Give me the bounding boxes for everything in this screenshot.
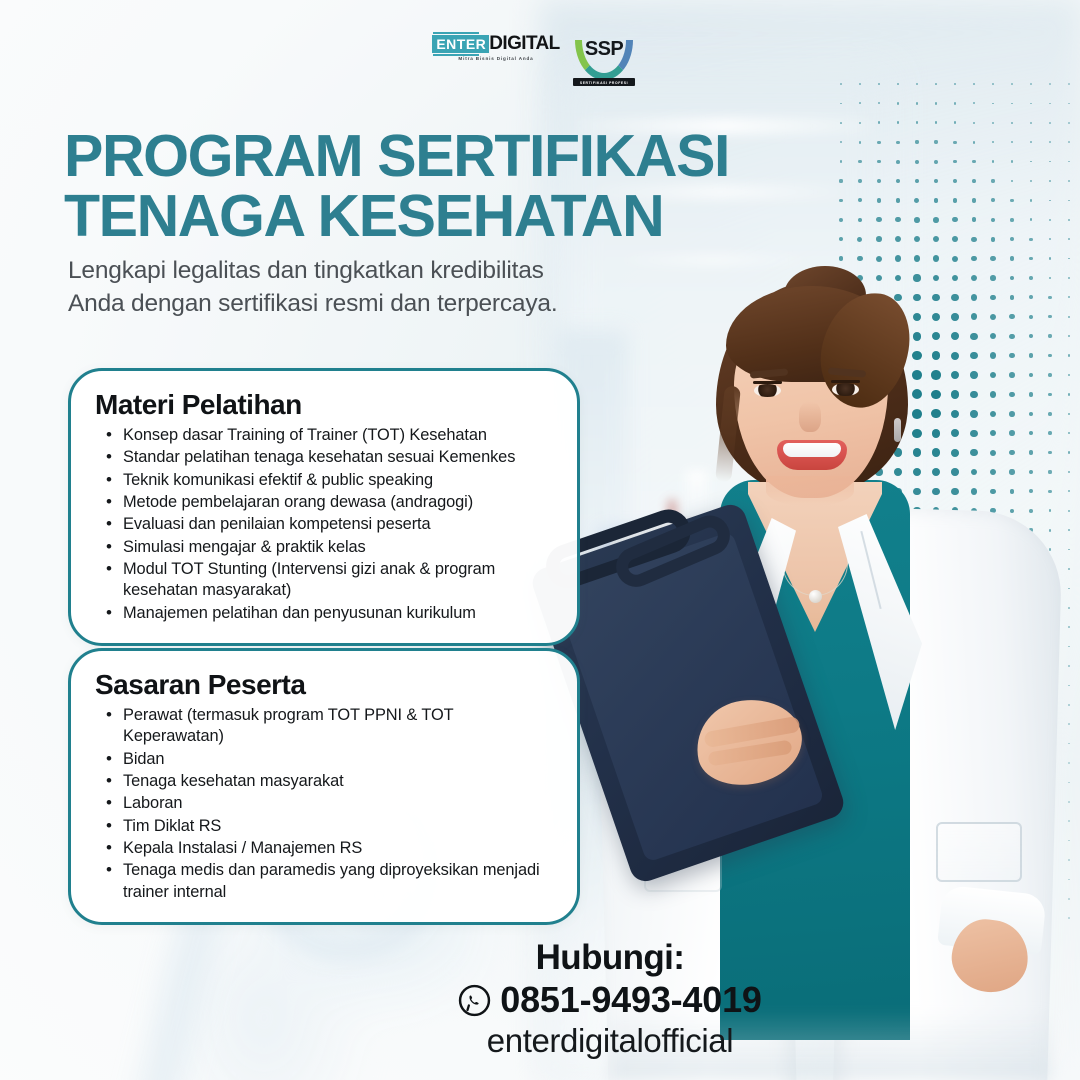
halftone-dot bbox=[1068, 161, 1070, 163]
halftone-dot bbox=[1068, 103, 1070, 105]
halftone-dot bbox=[972, 198, 976, 202]
halftone-dot bbox=[952, 217, 957, 222]
list-item: Tenaga kesehatan masyarakat bbox=[95, 771, 553, 792]
halftone-dot bbox=[1030, 122, 1032, 124]
halftone-dot bbox=[858, 218, 863, 223]
page-subtitle: Lengkapi legalitas dan tingkatkan kredib… bbox=[68, 255, 688, 320]
halftone-dot bbox=[877, 141, 880, 144]
halftone-dot bbox=[954, 102, 956, 104]
contact-phone-row[interactable]: 0851-9493-4019 bbox=[300, 979, 920, 1021]
halftone-dot bbox=[1011, 122, 1013, 124]
contact-label: Hubungi: bbox=[300, 938, 920, 978]
halftone-dot bbox=[915, 160, 919, 164]
contact-block: Hubungi: 0851-9493-4019 enterdigitaloffi… bbox=[300, 938, 920, 1060]
halftone-dot bbox=[1049, 161, 1051, 163]
halftone-dot bbox=[1011, 160, 1013, 162]
halftone-dot bbox=[934, 160, 938, 164]
halftone-dot bbox=[897, 121, 900, 124]
halftone-dot bbox=[840, 103, 842, 105]
halftone-dot bbox=[1049, 103, 1051, 105]
halftone-dot bbox=[1049, 180, 1051, 182]
halftone-dot bbox=[933, 217, 938, 222]
halftone-dot bbox=[859, 122, 861, 124]
halftone-dot bbox=[916, 121, 919, 124]
list-item: Standar pelatihan tenaga kesehatan sesua… bbox=[95, 447, 553, 468]
ssp-bar-text: SERTIFIKASI PROFESI bbox=[573, 81, 635, 85]
halftone-dot bbox=[1068, 219, 1070, 221]
halftone-dot bbox=[858, 198, 862, 202]
halftone-dot bbox=[1030, 199, 1033, 202]
card-sasaran-peserta: Sasaran Peserta Perawat (termasuk progra… bbox=[68, 648, 580, 925]
enter-digital-wordmark: ENTER DIGITAL bbox=[445, 34, 547, 53]
logo-digital-text: DIGITAL bbox=[489, 34, 559, 53]
list-item: Laboran bbox=[95, 793, 553, 814]
card-title: Sasaran Peserta bbox=[95, 669, 553, 701]
title-line-1: PROGRAM SERTIFIKASI bbox=[64, 128, 784, 186]
halftone-dot bbox=[934, 140, 937, 143]
subtitle-line-2: Anda dengan sertifikasi resmi dan terper… bbox=[68, 288, 688, 321]
halftone-dot bbox=[914, 198, 919, 203]
halftone-dot bbox=[859, 102, 861, 104]
earring bbox=[894, 418, 901, 442]
halftone-dot bbox=[895, 217, 900, 222]
logo-tagline: Mitra Bisnis Digital Anda bbox=[445, 56, 547, 61]
halftone-dot bbox=[1030, 141, 1032, 143]
halftone-dot bbox=[1030, 103, 1032, 105]
halftone-dot bbox=[916, 102, 918, 104]
halftone-dot bbox=[973, 122, 975, 124]
list-item: Konsep dasar Training of Trainer (TOT) K… bbox=[95, 425, 553, 446]
halftone-dot bbox=[954, 121, 957, 124]
halftone-dot bbox=[858, 160, 861, 163]
halftone-dot bbox=[972, 179, 976, 183]
halftone-dot bbox=[878, 121, 881, 124]
halftone-dot bbox=[877, 179, 881, 183]
halftone-dot bbox=[991, 198, 995, 202]
list-item: Evaluasi dan penilaian kompetensi pesert… bbox=[95, 514, 553, 535]
halftone-dot bbox=[840, 122, 842, 124]
halftone-dot bbox=[973, 141, 976, 144]
subtitle-line-1: Lengkapi legalitas dan tingkatkan kredib… bbox=[68, 255, 688, 288]
card-bullet-list: Perawat (termasuk program TOT PPNI & TOT… bbox=[95, 705, 553, 903]
list-item: Simulasi mengajar & praktik kelas bbox=[95, 537, 553, 558]
ssp-wordmark: SSP bbox=[573, 38, 635, 61]
eye-left bbox=[754, 384, 781, 397]
halftone-dot bbox=[858, 179, 862, 183]
chin-shadow bbox=[766, 476, 854, 506]
halftone-dot bbox=[896, 160, 900, 164]
enter-digital-logo: ENTER DIGITAL Mitra Bisnis Digital Anda bbox=[445, 34, 547, 61]
halftone-dot bbox=[935, 102, 937, 104]
list-item: Modul TOT Stunting (Intervensi gizi anak… bbox=[95, 559, 553, 602]
contact-social-handle[interactable]: enterdigitalofficial bbox=[300, 1022, 920, 1060]
halftone-dot bbox=[1011, 180, 1014, 183]
halftone-dot bbox=[915, 179, 919, 183]
poster-canvas: ENTER DIGITAL Mitra Bisnis Digital Anda … bbox=[0, 0, 1080, 1080]
halftone-dot bbox=[972, 160, 975, 163]
teeth bbox=[783, 443, 841, 457]
halftone-dot bbox=[839, 218, 843, 222]
halftone-dot bbox=[876, 217, 881, 222]
halftone-dot bbox=[1010, 199, 1013, 202]
halftone-dot bbox=[953, 179, 957, 183]
halftone-dot bbox=[1011, 103, 1013, 105]
ssp-logo: SSP SERTIFIKASI PROFESI bbox=[573, 34, 635, 86]
halftone-dot bbox=[896, 198, 901, 203]
list-item: Teknik komunikasi efektif & public speak… bbox=[95, 470, 553, 491]
halftone-dot bbox=[992, 103, 994, 105]
halftone-dot bbox=[992, 160, 995, 163]
halftone-dot bbox=[877, 198, 882, 203]
halftone-dot bbox=[1068, 122, 1070, 124]
halftone-dot bbox=[840, 141, 842, 143]
necklace-pendant bbox=[809, 590, 822, 603]
halftone-dot bbox=[840, 160, 843, 163]
halftone-dot bbox=[1049, 122, 1051, 124]
eye-right bbox=[832, 383, 859, 396]
halftone-dot bbox=[992, 122, 994, 124]
halftone-dot bbox=[915, 140, 918, 143]
page-title: PROGRAM SERTIFIKASI TENAGA KESEHATAN bbox=[64, 128, 784, 246]
halftone-dot bbox=[877, 160, 881, 164]
halftone-dot bbox=[991, 218, 995, 222]
contact-phone-number[interactable]: 0851-9493-4019 bbox=[500, 979, 761, 1021]
halftone-dot bbox=[1049, 200, 1051, 202]
list-item: Tenaga medis dan paramedis yang diproyek… bbox=[95, 860, 553, 903]
list-item: Metode pembelajaran orang dewasa (andrag… bbox=[95, 492, 553, 513]
halftone-dot bbox=[953, 141, 956, 144]
logo-enter-text: ENTER bbox=[432, 35, 489, 53]
list-item: Kepala Instalasi / Manajemen RS bbox=[95, 838, 553, 859]
halftone-dot bbox=[896, 179, 900, 183]
nose bbox=[799, 402, 821, 432]
halftone-dot bbox=[1011, 141, 1013, 143]
card-bullet-list: Konsep dasar Training of Trainer (TOT) K… bbox=[95, 425, 553, 624]
halftone-dot bbox=[914, 217, 920, 223]
halftone-dot bbox=[973, 102, 975, 104]
halftone-dot bbox=[953, 198, 958, 203]
halftone-dot bbox=[935, 121, 938, 124]
title-line-2: TENAGA KESEHATAN bbox=[64, 188, 784, 246]
halftone-dot bbox=[992, 141, 995, 144]
list-item: Bidan bbox=[95, 749, 553, 770]
list-item: Tim Diklat RS bbox=[95, 816, 553, 837]
halftone-dot bbox=[934, 198, 939, 203]
halftone-dot bbox=[1030, 161, 1032, 163]
halftone-dot bbox=[878, 102, 880, 104]
list-item: Perawat (termasuk program TOT PPNI & TOT… bbox=[95, 705, 553, 748]
card-title: Materi Pelatihan bbox=[95, 389, 553, 421]
halftone-dot bbox=[991, 179, 994, 182]
halftone-dot bbox=[1030, 180, 1032, 182]
halftone-dot bbox=[1068, 200, 1070, 202]
halftone-dot bbox=[1068, 141, 1070, 143]
halftone-dot bbox=[897, 102, 899, 104]
logo-bar: ENTER DIGITAL Mitra Bisnis Digital Anda … bbox=[0, 34, 1080, 86]
halftone-dot bbox=[839, 179, 842, 182]
halftone-dot bbox=[1030, 218, 1033, 221]
card-materi-pelatihan: Materi Pelatihan Konsep dasar Training o… bbox=[68, 368, 580, 646]
halftone-dot bbox=[1068, 180, 1070, 182]
list-item: Manajemen pelatihan dan penyusunan kurik… bbox=[95, 603, 553, 624]
halftone-dot bbox=[839, 199, 843, 203]
halftone-dot bbox=[859, 141, 862, 144]
halftone-dot bbox=[1010, 218, 1014, 222]
halftone-dot bbox=[896, 141, 899, 144]
coat-pocket-right bbox=[936, 822, 1022, 882]
halftone-dot bbox=[1049, 141, 1051, 143]
whatsapp-icon[interactable] bbox=[458, 984, 491, 1017]
halftone-dot bbox=[972, 217, 977, 222]
halftone-dot bbox=[1049, 219, 1051, 221]
halftone-dot bbox=[934, 179, 938, 183]
halftone-dot bbox=[953, 160, 957, 164]
